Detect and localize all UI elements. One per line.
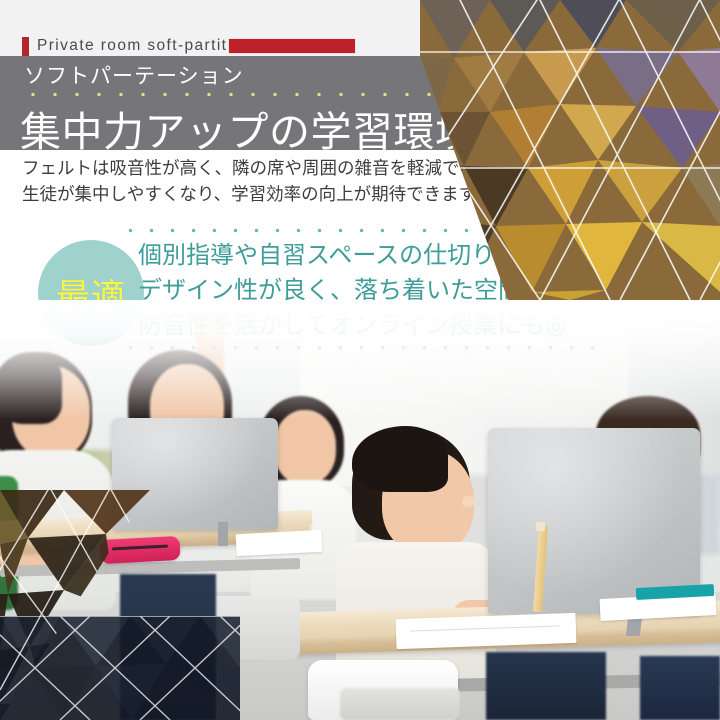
feature-item-3: 防音性を活かしてオンライン授業にも◎: [138, 308, 566, 343]
feature-item-1: 個別指導や自習スペースの仕切りに: [138, 238, 566, 273]
advertisement-canvas: Private room soft-partition ソフトパーテーション 集…: [0, 0, 720, 720]
header-dotted-divider: [22, 92, 578, 97]
photo-chair-back: [204, 596, 300, 660]
eyebrow-accent-bar: [228, 38, 356, 54]
photo-partition-left: [112, 418, 278, 530]
best-for-badge: 最適: [38, 240, 144, 346]
feature-list: 個別指導や自習スペースの仕切りに デザイン性が良く、落ち着いた空間に 防音性を活…: [138, 238, 566, 343]
feature-dotted-top: [120, 228, 600, 233]
eyebrow-label: Private room soft-partition: [37, 37, 252, 55]
photo-notebook-center: [235, 530, 322, 556]
eyebrow: Private room soft-partition: [22, 36, 252, 56]
lead-paragraph: フェルトは吸音性が高く、隣の席や周囲の雑音を軽減できます。 生徒が集中しやすくな…: [22, 156, 528, 208]
feature-item-2: デザイン性が良く、落ち着いた空間に: [138, 273, 566, 308]
lead-line-1: フェルトは吸音性が高く、隣の席や周囲の雑音を軽減できます。: [22, 156, 528, 182]
photo-partition-left-foot: [218, 522, 228, 546]
photo-student-legs-far-right: [640, 656, 720, 720]
lead-line-2: 生徒が集中しやすくなり、学習効率の向上が期待できます。: [22, 182, 528, 208]
best-for-badge-label: 最適: [56, 269, 126, 318]
page-title: 集中力アップの学習環境を作る: [20, 98, 601, 158]
header-subtitle: ソフトパーテーション: [24, 60, 244, 90]
photo-student-legs-right: [486, 652, 606, 720]
feature-dotted-bottom: [120, 345, 600, 350]
photo-pencil-tip: [536, 522, 545, 531]
eyebrow-tick-icon: [22, 37, 29, 56]
classroom-photo: [0, 300, 720, 720]
photo-chair-base: [340, 688, 460, 720]
photo-student-legs: [120, 574, 216, 720]
